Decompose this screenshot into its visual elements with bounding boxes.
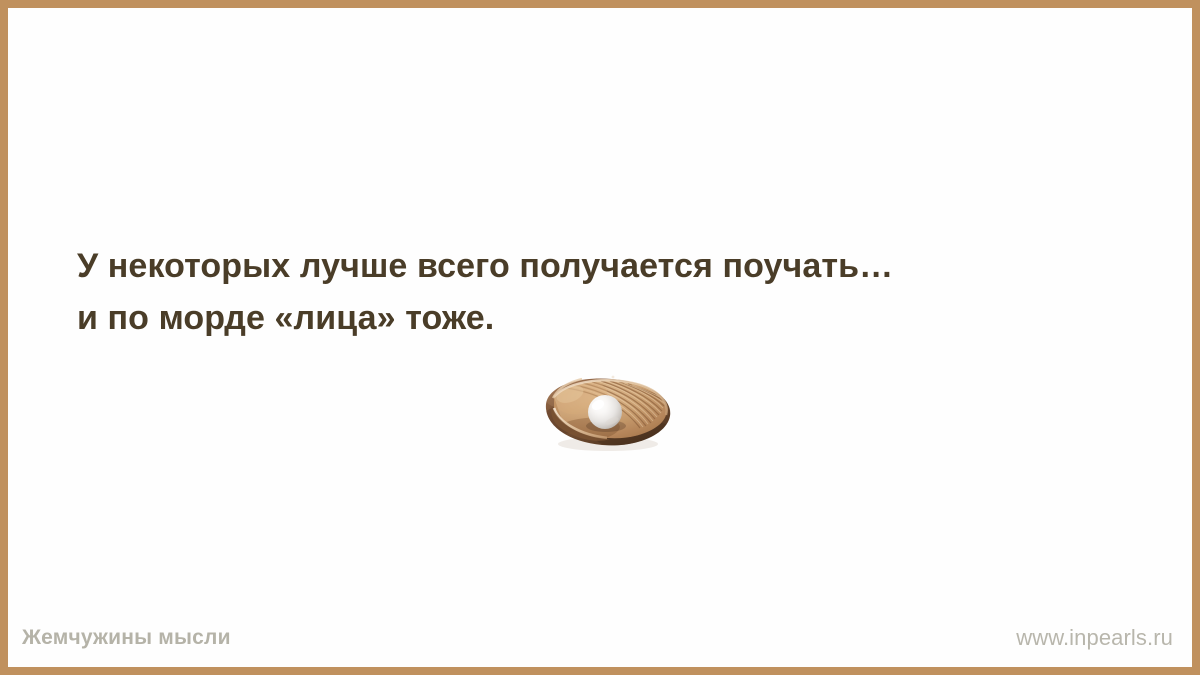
quote-line-1: У некоторых лучше всего получается поуча…: [77, 240, 1137, 292]
quote-line-2: и по морде «лица» тоже.: [77, 292, 1137, 344]
oyster-shell-with-pearl-icon: [536, 368, 680, 456]
site-url-link[interactable]: www.inpearls.ru: [1016, 625, 1173, 651]
site-name-label: Жемчужины мысли: [22, 626, 231, 650]
sparkle-icon: [612, 376, 615, 379]
quote-text-block: У некоторых лучше всего получается поуча…: [77, 240, 1137, 344]
quote-card: У некоторых лучше всего получается поуча…: [0, 0, 1200, 675]
